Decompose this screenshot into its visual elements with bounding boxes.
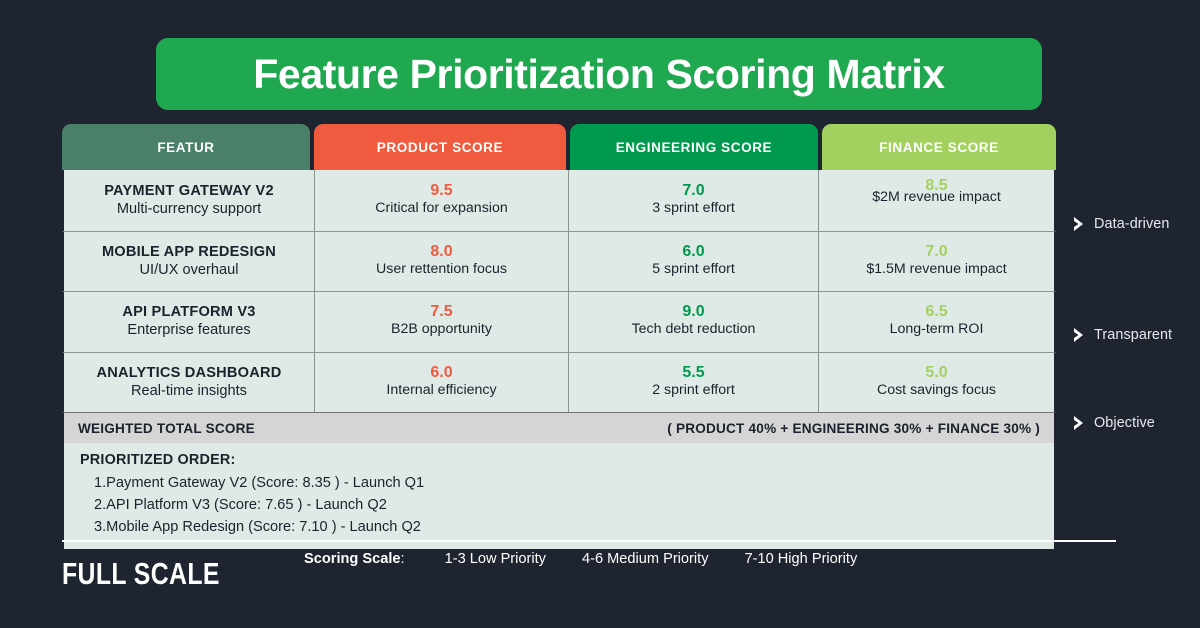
engineering-note: 3 sprint effort <box>652 200 735 218</box>
scoring-matrix-table: FEATUR PRODUCT SCORE ENGINEERING SCORE F… <box>62 124 1056 551</box>
finance-score: 6.5 <box>925 304 947 321</box>
cell-product: 6.0 Internal efficiency <box>314 353 568 413</box>
engineering-score: 9.0 <box>682 304 704 321</box>
cell-feature: API PLATFORM V3 Enterprise features <box>64 292 314 352</box>
cell-feature: MOBILE APP REDESIGN UI/UX overhaul <box>64 232 314 292</box>
callout-objective: Objective <box>1072 414 1155 432</box>
product-note: User rettention focus <box>376 261 507 279</box>
finance-note: $1.5M revenue impact <box>866 261 1006 279</box>
page-title-banner: Feature Prioritization Scoring Matrix <box>156 38 1042 110</box>
feature-subtitle: Enterprise features <box>127 321 250 340</box>
cell-feature: ANALYTICS DASHBOARD Real-time insights <box>64 353 314 413</box>
list-item: 3.Mobile App Redesign (Score: 7.10 ) - L… <box>80 516 1054 538</box>
scoring-scale-colon: : <box>401 551 405 567</box>
cell-engineering: 7.0 3 sprint effort <box>568 170 818 231</box>
finance-note: Cost savings focus <box>877 382 996 400</box>
scoring-scale-high: 7-10 High Priority <box>745 551 858 567</box>
finance-note: $2M revenue impact <box>872 189 1001 207</box>
product-note: Critical for expansion <box>375 200 507 218</box>
cell-feature: PAYMENT GATEWAY V2 Multi-currency suppor… <box>64 170 314 231</box>
product-score: 8.0 <box>430 244 452 261</box>
callout-transparent: Transparent <box>1072 326 1172 344</box>
page-title: Feature Prioritization Scoring Matrix <box>253 51 944 98</box>
engineering-score: 7.0 <box>682 183 704 200</box>
cell-finance: 7.0 $1.5M revenue impact <box>818 232 1054 292</box>
product-note: Internal efficiency <box>386 382 496 400</box>
prioritized-order-title: PRIORITIZED ORDER: <box>80 452 1054 468</box>
cell-finance: 8.5 $2M revenue impact <box>818 170 1054 231</box>
list-item: 1.Payment Gateway V2 (Score: 8.35 ) - La… <box>80 472 1054 494</box>
scoring-scale-medium: 4-6 Medium Priority <box>582 551 709 567</box>
chevron-right-icon <box>1072 326 1086 344</box>
chevron-right-icon <box>1072 414 1086 432</box>
column-header-finance: FINANCE SCORE <box>822 124 1056 170</box>
engineering-note: Tech debt reduction <box>632 321 756 339</box>
product-score: 7.5 <box>430 304 452 321</box>
weighted-total-label: WEIGHTED TOTAL SCORE <box>78 421 255 436</box>
table-row: MOBILE APP REDESIGN UI/UX overhaul 8.0 U… <box>62 231 1056 292</box>
column-header-feature: FEATUR <box>62 124 310 170</box>
finance-score: 5.0 <box>925 365 947 382</box>
prioritized-order-panel: PRIORITIZED ORDER: 1.Payment Gateway V2 … <box>62 443 1056 551</box>
cell-engineering: 6.0 5 sprint effort <box>568 232 818 292</box>
feature-name: PAYMENT GATEWAY V2 <box>104 182 274 200</box>
callout-label: Objective <box>1094 415 1155 431</box>
chevron-right-icon <box>1072 215 1086 233</box>
footer-divider <box>62 540 1116 542</box>
finance-score: 7.0 <box>925 244 947 261</box>
callout-label: Data-driven <box>1094 216 1169 232</box>
column-header-product: PRODUCT SCORE <box>314 124 566 170</box>
engineering-note: 2 sprint effort <box>652 382 735 400</box>
product-note: B2B opportunity <box>391 321 492 339</box>
product-score: 6.0 <box>430 365 452 382</box>
feature-subtitle: Real-time insights <box>131 382 247 401</box>
column-header-finance-label: FINANCE SCORE <box>879 140 999 155</box>
engineering-score: 5.5 <box>682 365 704 382</box>
feature-subtitle: UI/UX overhaul <box>140 261 239 280</box>
engineering-score: 6.0 <box>682 244 704 261</box>
brand-logo: FULL SCALE <box>62 556 220 592</box>
engineering-note: 5 sprint effort <box>652 261 735 279</box>
feature-name: API PLATFORM V3 <box>122 303 255 321</box>
cell-finance: 5.0 Cost savings focus <box>818 353 1054 413</box>
scoring-scale-low: 1-3 Low Priority <box>445 551 546 567</box>
list-item: 2.API Platform V3 (Score: 7.65 ) - Launc… <box>80 494 1054 516</box>
feature-name: MOBILE APP REDESIGN <box>102 243 276 261</box>
scoring-scale-label: Scoring Scale <box>304 551 401 567</box>
cell-finance: 6.5 Long-term ROI <box>818 292 1054 352</box>
scoring-scale-legend: Scoring Scale : 1-3 Low Priority 4-6 Med… <box>304 551 857 567</box>
table-row: PAYMENT GATEWAY V2 Multi-currency suppor… <box>62 170 1056 231</box>
cell-engineering: 9.0 Tech debt reduction <box>568 292 818 352</box>
cell-engineering: 5.5 2 sprint effort <box>568 353 818 413</box>
column-header-engineering-label: ENGINEERING SCORE <box>616 140 772 155</box>
column-header-feature-label: FEATUR <box>157 140 214 155</box>
weighted-total-formula: ( PRODUCT 40% + ENGINEERING 30% + FINANC… <box>667 421 1040 436</box>
column-header-engineering: ENGINEERING SCORE <box>570 124 818 170</box>
product-score: 9.5 <box>430 183 452 200</box>
feature-name: ANALYTICS DASHBOARD <box>97 364 282 382</box>
callout-label: Transparent <box>1094 327 1172 343</box>
feature-subtitle: Multi-currency support <box>117 200 261 219</box>
callout-data-driven: Data-driven <box>1072 215 1169 233</box>
table-header-row: FEATUR PRODUCT SCORE ENGINEERING SCORE F… <box>62 124 1056 170</box>
cell-product: 7.5 B2B opportunity <box>314 292 568 352</box>
table-row: ANALYTICS DASHBOARD Real-time insights 6… <box>62 352 1056 413</box>
cell-product: 8.0 User rettention focus <box>314 232 568 292</box>
weighted-total-row: WEIGHTED TOTAL SCORE ( PRODUCT 40% + ENG… <box>62 412 1056 443</box>
column-header-product-label: PRODUCT SCORE <box>377 140 503 155</box>
cell-product: 9.5 Critical for expansion <box>314 170 568 231</box>
finance-note: Long-term ROI <box>890 321 984 339</box>
table-row: API PLATFORM V3 Enterprise features 7.5 … <box>62 291 1056 352</box>
